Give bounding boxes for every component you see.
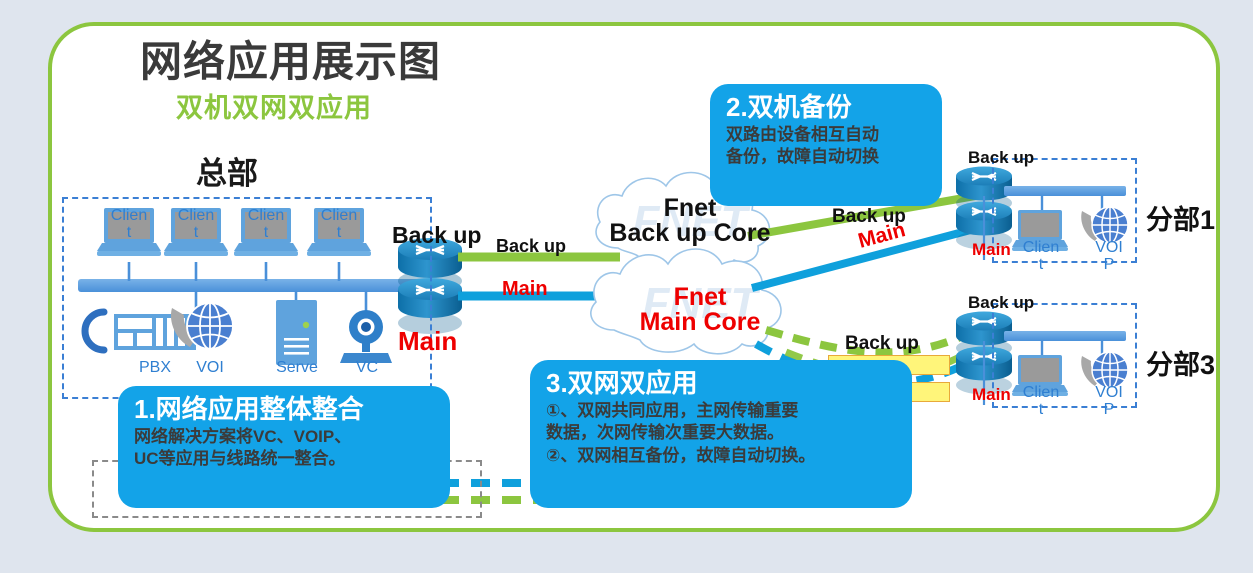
callout-2-line-2: 备份，故障自动切换 (726, 146, 928, 168)
cloud-backup-line1: Fnet (664, 194, 717, 222)
branch3-device-label-voip: VOIP (1086, 385, 1132, 419)
callout-3-line-1: ①、双网共同应用，主网传输重要 (546, 400, 898, 422)
link-label-hq-main: Main (502, 278, 548, 301)
hq-device-label-vc: VC (344, 360, 390, 377)
link-label-branch3-backup: Back up (845, 333, 919, 355)
callout-2[interactable]: 2.双机备份 双路由设备相互自动 备份，故障自动切换 (710, 84, 942, 206)
branch1-router-label-backup: Back up (968, 148, 1034, 168)
branch3-device-label-client: Client (1018, 385, 1064, 419)
cloud-main-line1: Fnet (674, 283, 727, 311)
callout-3-line-2: 数据，次网传输次重要大数据。 (546, 422, 898, 444)
callout-3[interactable]: 3.双网双应用 ①、双网共同应用，主网传输重要 数据，次网传输次重要大数据。 ②… (530, 360, 912, 508)
callout-3-heading: 3.双网双应用 (546, 368, 898, 400)
hq-device-label-pbx: PBX (130, 360, 180, 377)
hq-client-label-3: Client (243, 208, 289, 242)
callout-2-line-1: 双路由设备相互自动 (726, 124, 928, 146)
diagram-canvas: FNET FNET (0, 0, 1253, 573)
hq-client-label-2: Client (173, 208, 219, 242)
callout-1-line-2: UC等应用与线路统一整合。 (134, 448, 436, 470)
branch3-router-label-main: Main (972, 385, 1011, 405)
page-title: 网络应用展示图 (140, 28, 441, 89)
branch1-title: 分部1 (1146, 198, 1215, 237)
callout-3-line-3: ②、双网相互备份，故障自动切换。 (546, 445, 898, 467)
callout-1[interactable]: 1.网络应用整体整合 网络解决方案将VC、VOIP、 UC等应用与线路统一整合。 (118, 386, 450, 508)
branch1-device-label-voip: VOIP (1086, 240, 1132, 274)
callout-2-heading: 2.双机备份 (726, 92, 928, 124)
branch3-router-label-backup: Back up (968, 293, 1034, 313)
hq-device-label-server: Serve (268, 360, 326, 377)
hq-router-label-main: Main (398, 326, 457, 357)
branch1-router-label-main: Main (972, 240, 1011, 260)
hq-device-label-voi: VOI (185, 360, 235, 377)
link-label-hq-backup: Back up (496, 236, 566, 257)
hq-client-label-4: Client (316, 208, 362, 242)
callout-1-body: 网络解决方案将VC、VOIP、 UC等应用与线路统一整合。 (134, 426, 436, 471)
callout-2-body: 双路由设备相互自动 备份，故障自动切换 (726, 124, 928, 169)
headquarters-title: 总部 (196, 148, 258, 193)
callout-3-body: ①、双网共同应用，主网传输重要 数据，次网传输次重要大数据。 ②、双网相互备份，… (546, 400, 898, 467)
cloud-main-line2: Main Core (640, 308, 761, 336)
cloud-backup-line2: Back up Core (609, 219, 770, 247)
hq-client-label-1: Client (106, 208, 152, 242)
callout-1-heading: 1.网络应用整体整合 (134, 394, 436, 426)
branch3-title: 分部3 (1146, 343, 1215, 382)
hq-router-label-backup: Back up (392, 222, 481, 249)
callout-1-line-1: 网络解决方案将VC、VOIP、 (134, 426, 436, 448)
page-subtitle: 双机双网双应用 (176, 86, 372, 125)
cloud-main-label: Fnet Main Core (600, 285, 800, 335)
branch1-device-label-client: Client (1018, 240, 1064, 274)
